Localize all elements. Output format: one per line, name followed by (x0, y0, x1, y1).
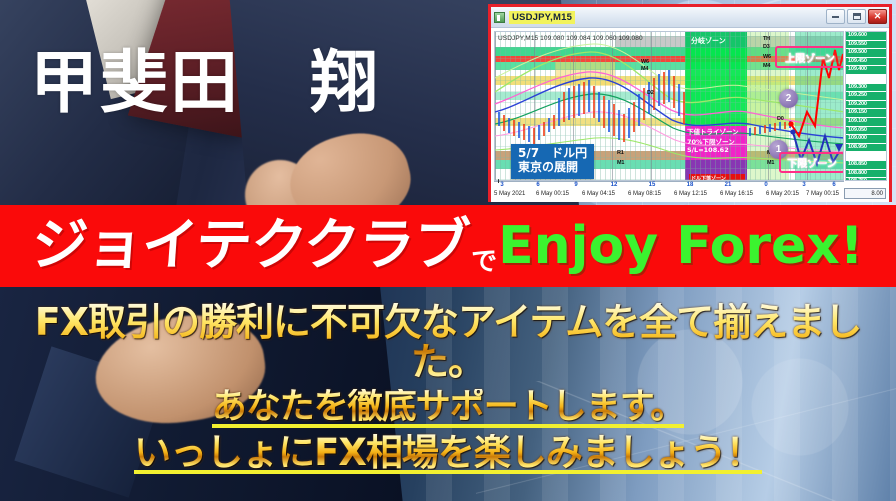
window-controls: ✕ (826, 9, 887, 24)
red-banner: ジョイテククラブ で Enjoy Forex! (0, 205, 896, 287)
enjoy-forex-text: Enjoy Forex! (498, 220, 863, 272)
person-name: 甲斐田 翔 (30, 50, 380, 118)
upper-zone-callout: 上限ゾーン (775, 46, 844, 68)
tagline-line-1: FX取引の勝利に不可欠なアイテムを全て揃えました。 (0, 303, 896, 383)
price-tick: 109.050 (846, 127, 886, 135)
price-tick: 109.250 (846, 92, 886, 100)
time-date: 7 May 00:15 (806, 191, 839, 197)
time-axis[interactable]: 3 6 9 12 15 18 21 0 3 6 5 May 2021 6 May… (494, 181, 844, 200)
price-tick: 109.600 (846, 32, 886, 40)
tagline-line-2-row: あなたを徹底サポートします。 (0, 389, 896, 426)
time-hour: 0 (764, 182, 767, 188)
minimize-button[interactable] (826, 9, 845, 24)
session-label: 5/7 ドル円 東京の展開 (511, 144, 594, 179)
price-tick: 109.300 (846, 84, 886, 92)
time-hour: 6 (536, 182, 539, 188)
price-tick: 109.100 (846, 118, 886, 126)
time-date: 6 May 20:15 (766, 191, 799, 197)
tagline-line-3: いっしょにFX相場を楽しみましょう！ (134, 434, 762, 473)
marker-two: 2 (779, 89, 798, 108)
price-tick: 108.850 (846, 161, 886, 169)
tagline-line-2: あなたを徹底サポートします。 (212, 389, 685, 426)
chart-body: ドル下落ゾーン (491, 28, 889, 202)
price-tick: 109.000 (846, 135, 886, 143)
price-plot[interactable]: ドル下落ゾーン (494, 31, 844, 181)
club-name: ジョイテククラブ (31, 218, 472, 274)
price-tick-gap (846, 75, 886, 83)
price-tick: 109.550 (846, 41, 886, 49)
tagline-line-1-row: FX取引の勝利に不可欠なアイテムを全て揃えました。 (0, 303, 896, 383)
time-hour: 3 (802, 182, 805, 188)
price-tick: 108.800 (846, 170, 886, 178)
price-tick: 108.750 (846, 178, 886, 181)
tagline-line-3-row: いっしょにFX相場を楽しみましょう！ (0, 434, 896, 473)
time-hour: 3 (500, 182, 503, 188)
particle-de: で (471, 249, 497, 275)
lower-zone-callout: 下限ゾーン (779, 152, 844, 173)
promo-banner: 甲斐田 翔 USDJPY,M15 ✕ (0, 0, 896, 501)
upper-zone-label: 上限ゾーン (785, 50, 835, 65)
time-hour: 12 (611, 182, 618, 188)
mt4-chart-window: USDJPY,M15 ✕ (488, 4, 892, 202)
price-tick-gap (846, 152, 886, 160)
price-tick: 109.400 (846, 66, 886, 74)
time-hour: 15 (649, 182, 656, 188)
time-date: 6 May 16:15 (720, 191, 753, 197)
price-scale[interactable]: 109.600 109.550 109.500 109.450 109.400 … (845, 31, 887, 181)
window-title: USDJPY,M15 (509, 11, 575, 24)
maximize-button[interactable] (847, 9, 866, 24)
close-icon: ✕ (874, 12, 882, 21)
tagline-block: FX取引の勝利に不可欠なアイテムを全て揃えました。 あなたを徹底サポートします。… (0, 287, 896, 501)
minimize-icon (832, 16, 839, 18)
lower-zone-label: 下限ゾーン (787, 155, 837, 170)
time-hour: 6 (832, 182, 835, 188)
time-date: 6 May 12:15 (674, 191, 707, 197)
time-date: 5 May 2021 (494, 191, 525, 197)
maximize-icon (853, 13, 861, 20)
time-date: 6 May 04:15 (582, 191, 615, 197)
price-tick: 108.950 (846, 144, 886, 152)
close-button[interactable]: ✕ (868, 9, 887, 24)
time-hour: 18 (687, 182, 694, 188)
price-tick: 109.200 (846, 101, 886, 109)
price-tick: 109.150 (846, 109, 886, 117)
time-hour: 9 (574, 182, 577, 188)
time-date: 6 May 08:15 (628, 191, 661, 197)
time-date: 6 May 00:15 (536, 191, 569, 197)
bid-value: 8.00 (844, 188, 886, 199)
chart-window-icon (494, 12, 505, 23)
price-tick: 109.450 (846, 58, 886, 66)
window-title-bar[interactable]: USDJPY,M15 ✕ (491, 7, 889, 28)
price-tick: 109.500 (846, 49, 886, 57)
time-hour: 21 (725, 182, 732, 188)
